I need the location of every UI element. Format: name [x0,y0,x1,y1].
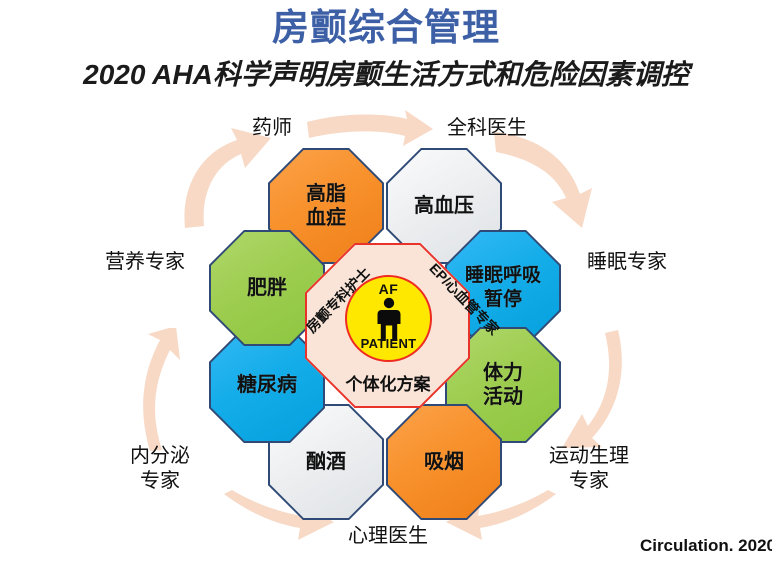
risk-label-diabetes: 糖尿病 [237,373,297,397]
risk-label-smoking: 吸烟 [424,450,464,474]
risk-label-hypertension: 高血压 [414,194,474,218]
specialist-label-pharmacist: 药师 [227,116,317,141]
specialist-label-general-practitioner: 全科医生 [432,116,542,141]
personalized-plan-label: 个体化方案 [318,370,458,395]
arrow-bottom-left-icon [120,328,190,453]
arrow-bottom-right-icon [554,328,664,453]
risk-label-obesity: 肥胖 [247,276,287,300]
page-subtitle: 2020 AHA科学声明房颤生活方式和危险因素调控 [0,58,772,92]
specialist-label-nutritionist: 营养专家 [90,250,200,275]
risk-label-physical-activity: 体力 活动 [483,361,523,409]
source-citation: Circulation. 2020 [640,536,772,556]
arrow-top-center-icon [305,110,435,150]
slide-canvas: 房颤综合管理 2020 AHA科学声明房颤生活方式和危险因素调控 高脂 血症 高… [0,0,772,562]
specialist-label-endocrinologist: 内分泌 专家 [110,444,210,494]
page-title: 房颤综合管理 [0,6,772,50]
specialist-label-exercise-physiologist: 运动生理 专家 [531,444,647,494]
af-label: AF [345,281,432,297]
specialist-label-sleep-specialist: 睡眠专家 [572,250,682,275]
patient-person-icon [370,297,408,341]
patient-label: PATIENT [341,336,436,351]
risk-label-alcohol-abuse: 酗酒 [306,450,346,474]
arrow-top-right-icon [490,126,600,236]
specialist-label-psychologist: 心理医生 [330,524,446,549]
risk-label-hyperlipidemia: 高脂 血症 [306,182,346,230]
